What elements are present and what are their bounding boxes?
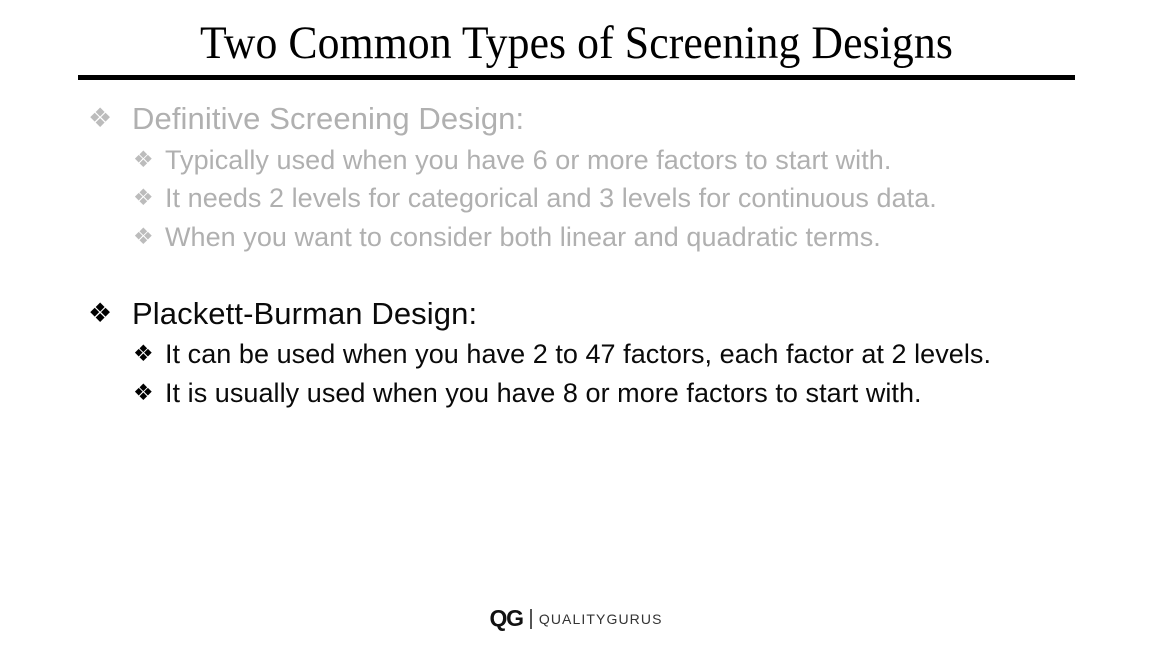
diamond-bullet-icon: ❖	[88, 98, 132, 140]
section-plackett-burman-design: ❖ Plackett-Burman Design: ❖ It can be us…	[0, 293, 1152, 413]
section-heading-label: Plackett-Burman Design:	[132, 293, 1152, 336]
logo-divider	[530, 609, 532, 629]
section-heading-label: Definitive Screening Design:	[132, 98, 1152, 141]
section-heading-row: ❖ Definitive Screening Design:	[0, 98, 1152, 141]
diamond-bullet-icon: ❖	[133, 374, 165, 411]
list-item-label: It is usually used when you have 8 or mo…	[165, 374, 1096, 413]
footer: QG QUALITYGURUS	[0, 607, 1152, 630]
diamond-bullet-icon: ❖	[133, 179, 165, 216]
list-item: ❖ When you want to consider both linear …	[0, 218, 1152, 257]
list-item-label: Typically used when you have 6 or more f…	[165, 141, 1096, 180]
section-definitive-screening-design: ❖ Definitive Screening Design: ❖ Typical…	[0, 98, 1152, 257]
list-item: ❖ It is usually used when you have 8 or …	[0, 374, 1152, 413]
quality-gurus-logo: QG QUALITYGURUS	[489, 607, 662, 630]
list-item-label: When you want to consider both linear an…	[165, 218, 1096, 257]
list-item: ❖ It needs 2 levels for categorical and …	[0, 179, 1152, 218]
section-heading-row: ❖ Plackett-Burman Design:	[0, 293, 1152, 336]
title-underline-rule	[78, 75, 1075, 80]
title-block: Two Common Types of Screening Designs	[78, 18, 1075, 80]
logo-mark-qg: QG	[489, 607, 522, 630]
diamond-bullet-icon: ❖	[133, 141, 165, 178]
diamond-bullet-icon: ❖	[133, 335, 165, 372]
list-item: ❖ Typically used when you have 6 or more…	[0, 141, 1152, 180]
diamond-bullet-icon: ❖	[133, 218, 165, 255]
logo-wordmark: QUALITYGURUS	[539, 612, 663, 626]
section-spacer	[0, 257, 1152, 293]
list-item-label: It needs 2 levels for categorical and 3 …	[165, 179, 1096, 218]
slide: Two Common Types of Screening Designs ❖ …	[0, 0, 1152, 648]
list-item-label: It can be used when you have 2 to 47 fac…	[165, 335, 1096, 374]
diamond-bullet-icon: ❖	[88, 293, 132, 335]
page-title: Two Common Types of Screening Designs	[113, 18, 1040, 69]
body-content: ❖ Definitive Screening Design: ❖ Typical…	[0, 98, 1152, 413]
list-item: ❖ It can be used when you have 2 to 47 f…	[0, 335, 1152, 374]
